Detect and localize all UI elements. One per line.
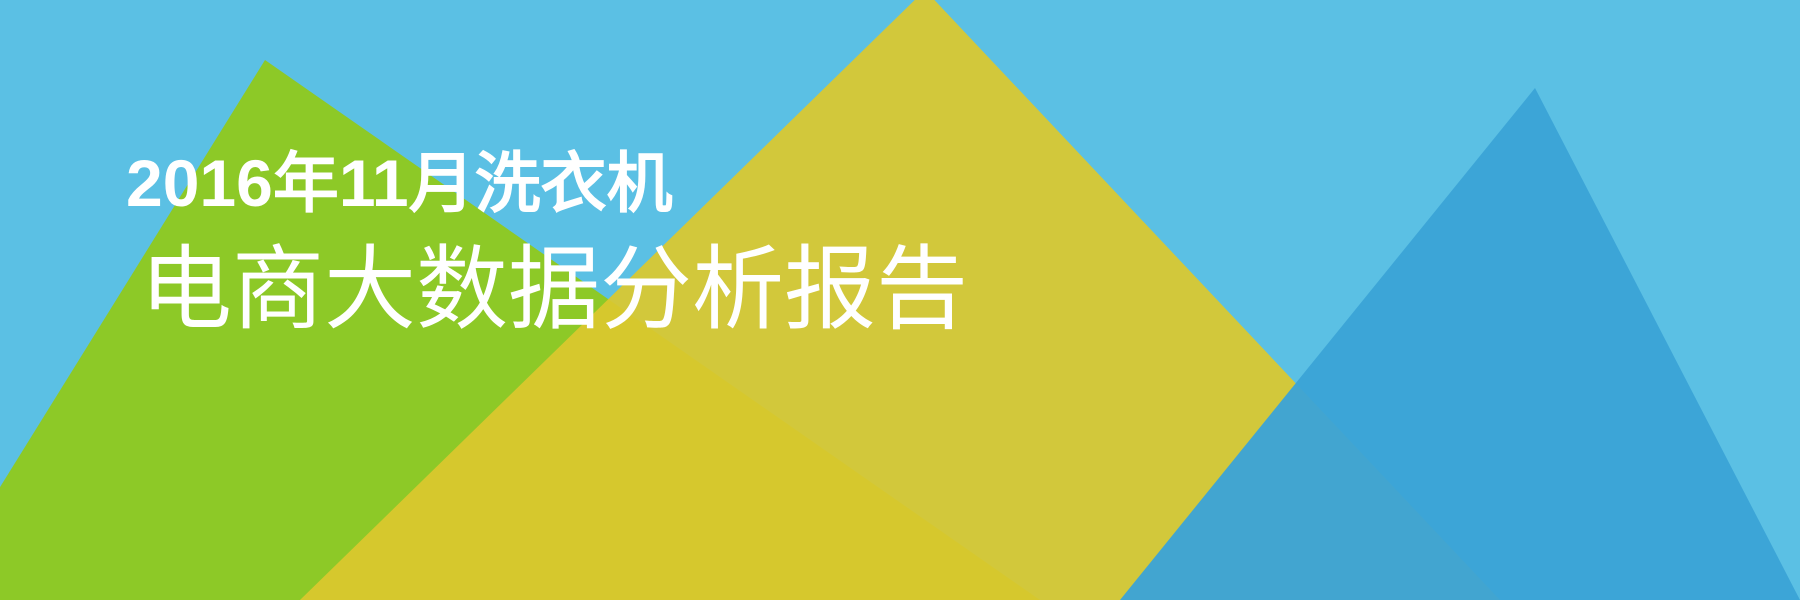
- background-graphic: [0, 0, 1800, 600]
- report-cover: 2016年11月洗衣机 电商大数据分析报告: [0, 0, 1800, 600]
